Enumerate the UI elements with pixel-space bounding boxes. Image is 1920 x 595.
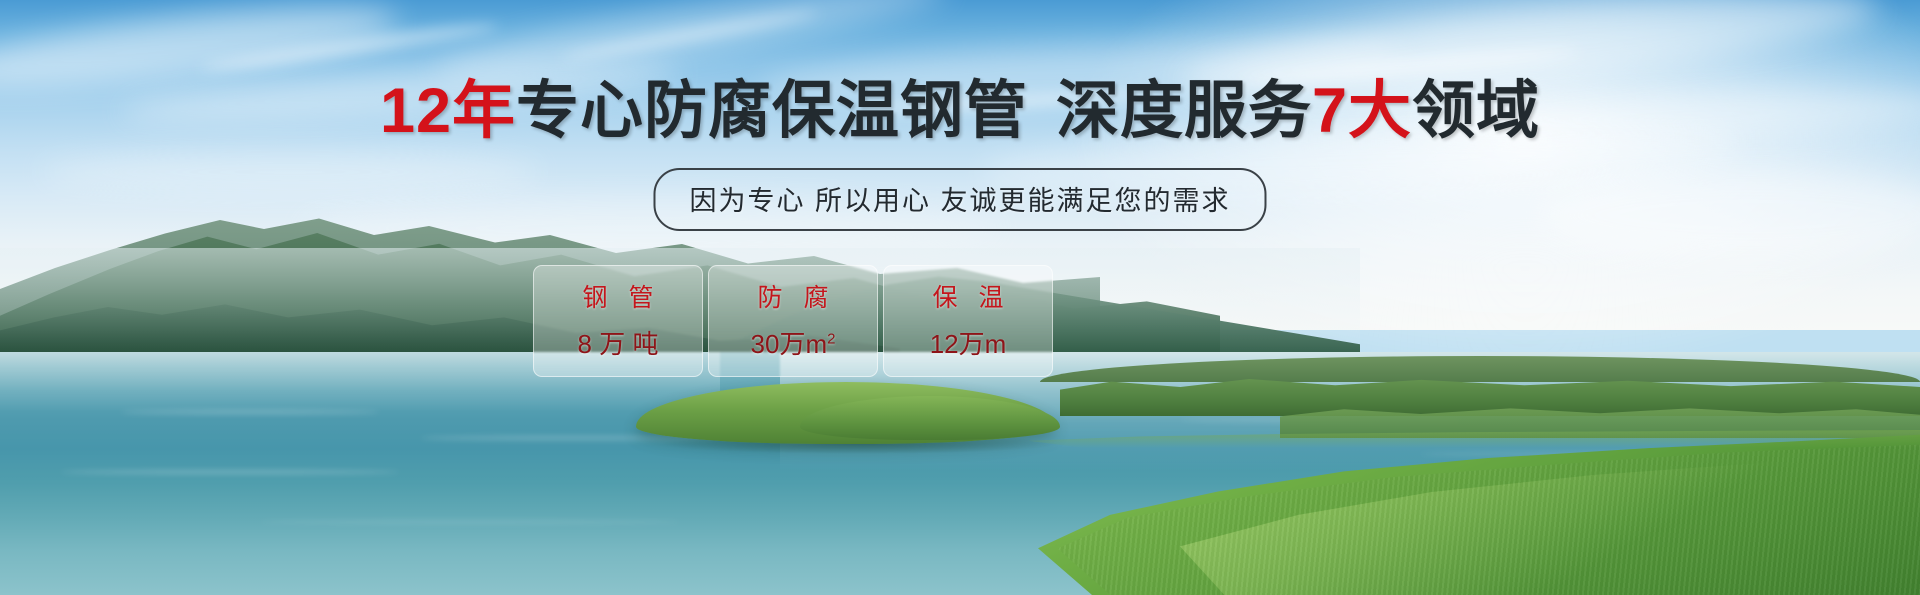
stat-card-label: 防 腐 xyxy=(751,286,836,311)
stat-card-value: 8 万 吨 xyxy=(578,331,659,357)
headline-main: 专心防腐保温钢管 xyxy=(516,76,1028,146)
headline-seven: 7大 xyxy=(1312,76,1412,146)
stat-card-label: 钢 管 xyxy=(576,286,661,311)
stat-value-main: 30万m xyxy=(751,329,828,359)
water-ripple xyxy=(260,520,680,524)
stat-card-value: 30万m2 xyxy=(751,331,836,357)
stat-card-anticorrosion[interactable]: 防 腐 30万m2 xyxy=(708,265,878,377)
stat-value-main: 12万m xyxy=(930,329,1007,359)
stat-card-label: 保 温 xyxy=(926,286,1011,311)
stat-value-superscript: 2 xyxy=(827,330,835,347)
banner-subtitle-pill: 因为专心 所以用心 友诚更能满足您的需求 xyxy=(653,168,1266,231)
stat-value-main: 8 万 吨 xyxy=(578,329,659,359)
stat-card-steel-pipe[interactable]: 钢 管 8 万 吨 xyxy=(533,265,703,377)
stat-card-insulation[interactable]: 保 温 12万m xyxy=(883,265,1053,377)
headline-years: 12年 xyxy=(380,76,516,146)
headline-service: 深度服务 xyxy=(1056,76,1312,146)
banner-headline: 12年专心防腐保温钢管深度服务7大领域 xyxy=(0,80,1920,143)
stat-card-list: 钢 管 8 万 吨 防 腐 30万m2 保 温 12万m xyxy=(533,265,1053,377)
cloud xyxy=(40,150,540,194)
hero-banner: 12年专心防腐保温钢管深度服务7大领域 因为专心 所以用心 友诚更能满足您的需求… xyxy=(0,0,1920,595)
headline-fields: 领域 xyxy=(1412,76,1540,146)
water-ripple xyxy=(60,470,400,474)
water-ripple xyxy=(120,410,380,414)
stat-card-value: 12万m xyxy=(930,331,1007,357)
